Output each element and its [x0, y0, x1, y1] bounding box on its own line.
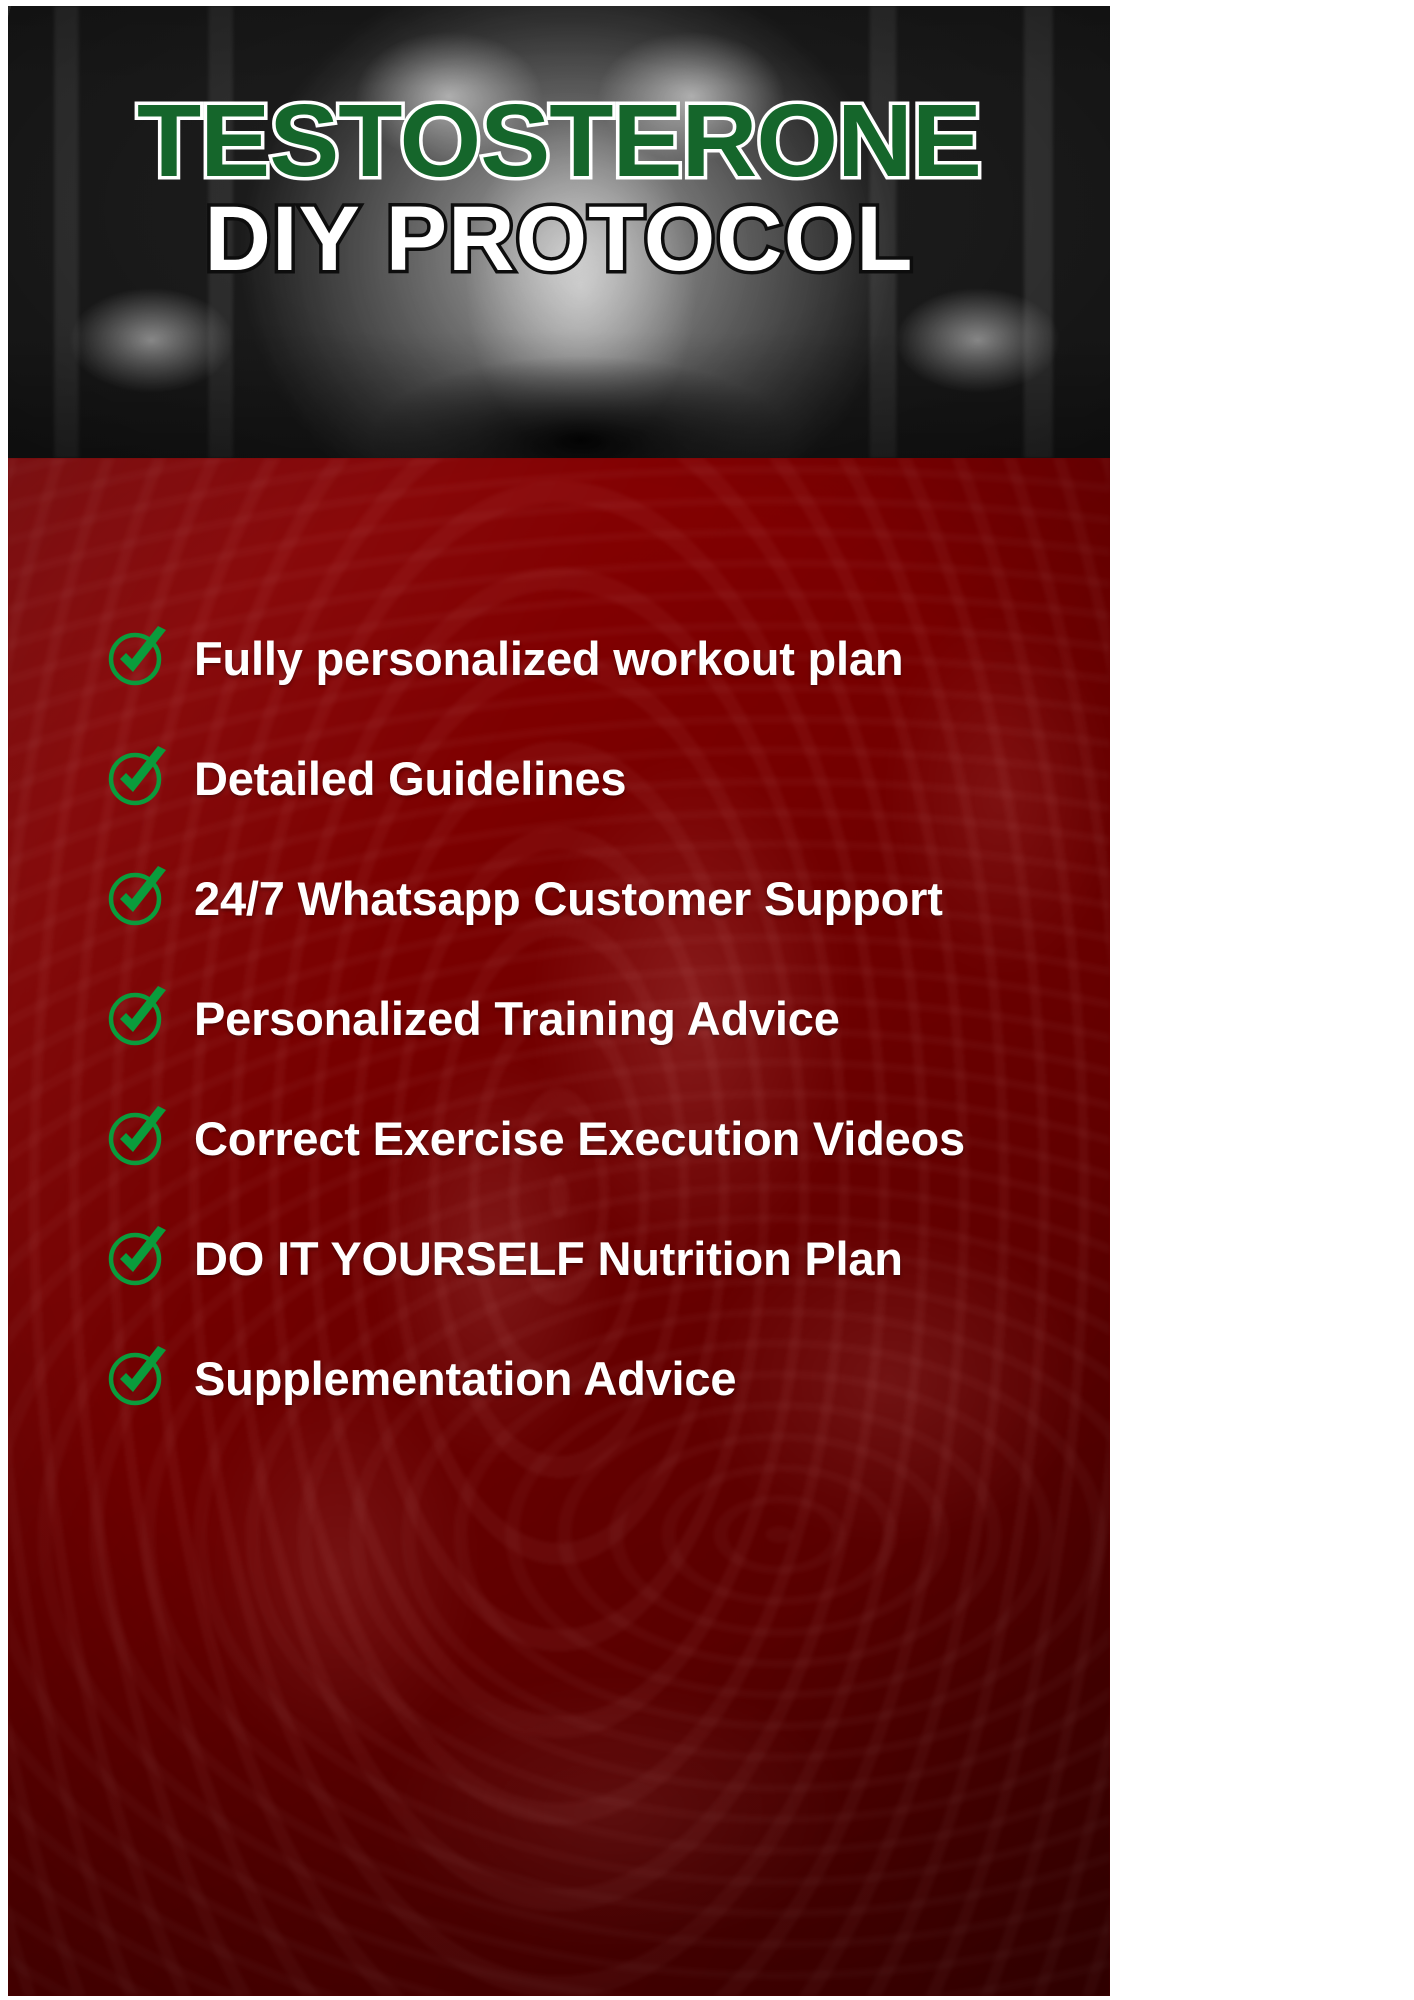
page-title: TESTOSTERONE: [8, 92, 1110, 191]
page-subtitle: DIY PROTOCOL: [8, 195, 1110, 283]
hero-banner: TESTOSTERONE DIY PROTOCOL: [8, 6, 1110, 458]
list-item-label: 24/7 Whatsapp Customer Support: [194, 875, 943, 922]
features-panel: Fully personalized workout plan Detailed…: [8, 458, 1110, 1996]
promo-poster: TESTOSTERONE DIY PROTOCOL Fully personal…: [0, 0, 1414, 2000]
feature-item-5: Correct Exercise Execution Videos: [8, 1078, 1110, 1198]
hero-title-group: TESTOSTERONE DIY PROTOCOL: [8, 92, 1110, 283]
feature-item-2: Detailed Guidelines: [8, 718, 1110, 838]
check-circle-icon: [106, 984, 170, 1048]
list-item-label: Fully personalized workout plan: [194, 635, 903, 682]
check-circle-icon: [106, 744, 170, 808]
feature-item-1: Fully personalized workout plan: [8, 598, 1110, 718]
list-item-label: Correct Exercise Execution Videos: [194, 1115, 965, 1162]
feature-list: Fully personalized workout plan Detailed…: [8, 458, 1110, 1996]
check-circle-icon: [106, 1224, 170, 1288]
check-circle-icon: [106, 624, 170, 688]
list-item-label: DO IT YOURSELF Nutrition Plan: [194, 1235, 903, 1282]
feature-item-6: DO IT YOURSELF Nutrition Plan: [8, 1198, 1110, 1318]
feature-item-7: Supplementation Advice: [8, 1318, 1110, 1438]
list-item-label: Supplementation Advice: [194, 1355, 736, 1402]
feature-item-4: Personalized Training Advice: [8, 958, 1110, 1078]
check-circle-icon: [106, 864, 170, 928]
feature-item-3: 24/7 Whatsapp Customer Support: [8, 838, 1110, 958]
list-item-label: Detailed Guidelines: [194, 755, 626, 802]
list-item-label: Personalized Training Advice: [194, 995, 840, 1042]
check-circle-icon: [106, 1104, 170, 1168]
check-circle-icon: [106, 1344, 170, 1408]
